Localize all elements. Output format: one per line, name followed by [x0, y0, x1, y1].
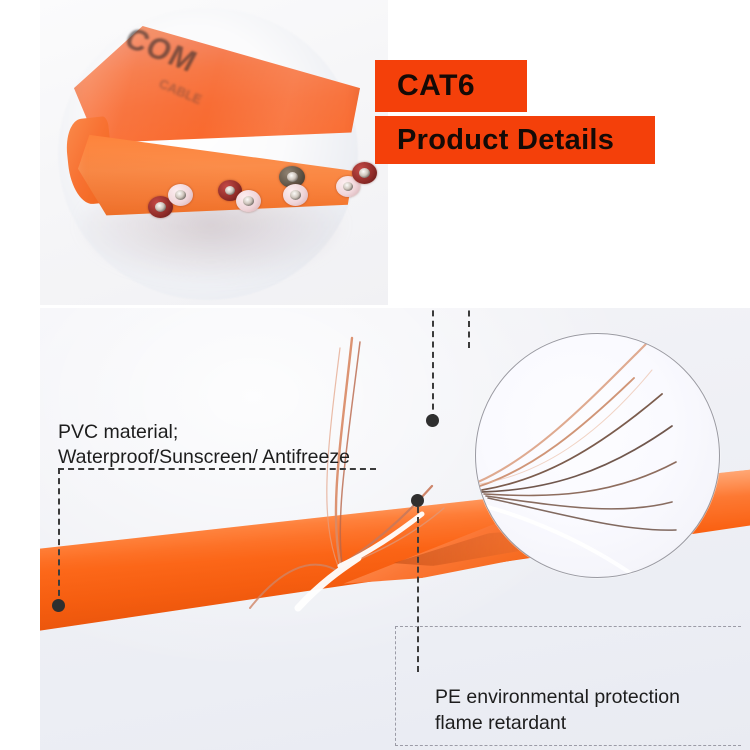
product-detail-image: COM CABLE: [0, 0, 750, 750]
callout-pe: PE environmental protection flame retard…: [435, 684, 680, 736]
label-product-details: Product Details: [375, 116, 655, 164]
marker-dot-strand-a: [426, 414, 439, 427]
conductor-6-white: [283, 184, 308, 206]
magnified-copper-strands: [476, 334, 719, 577]
magnifier-circle: [475, 333, 720, 578]
conductor-8-red: [352, 162, 377, 184]
callout-pvc: PVC material; Waterproof/Sunscreen/ Anti…: [58, 420, 350, 470]
label-cat6: CAT6: [375, 60, 527, 112]
leader-pvc-vertical: [58, 468, 60, 606]
callout-pe-line1: PE environmental protection: [435, 684, 680, 710]
leader-pvc-horizontal: [58, 468, 376, 470]
conductor-2-white: [168, 184, 193, 206]
leader-strand-vertical-a: [432, 308, 434, 420]
leader-strand-vertical-b: [468, 308, 470, 348]
callout-pvc-line2: Waterproof/Sunscreen/ Antifreeze: [58, 445, 350, 470]
callout-pe-line2: flame retardant: [435, 710, 680, 736]
top-photo-panel: COM CABLE: [40, 0, 388, 305]
callout-pvc-line1: PVC material;: [58, 420, 350, 445]
bottom-photo-panel: PVC material; Waterproof/Sunscreen/ Anti…: [40, 308, 750, 750]
marker-dot-jacket-split: [411, 494, 424, 507]
conductor-4-white: [236, 190, 261, 212]
marker-dot-pvc: [52, 599, 65, 612]
